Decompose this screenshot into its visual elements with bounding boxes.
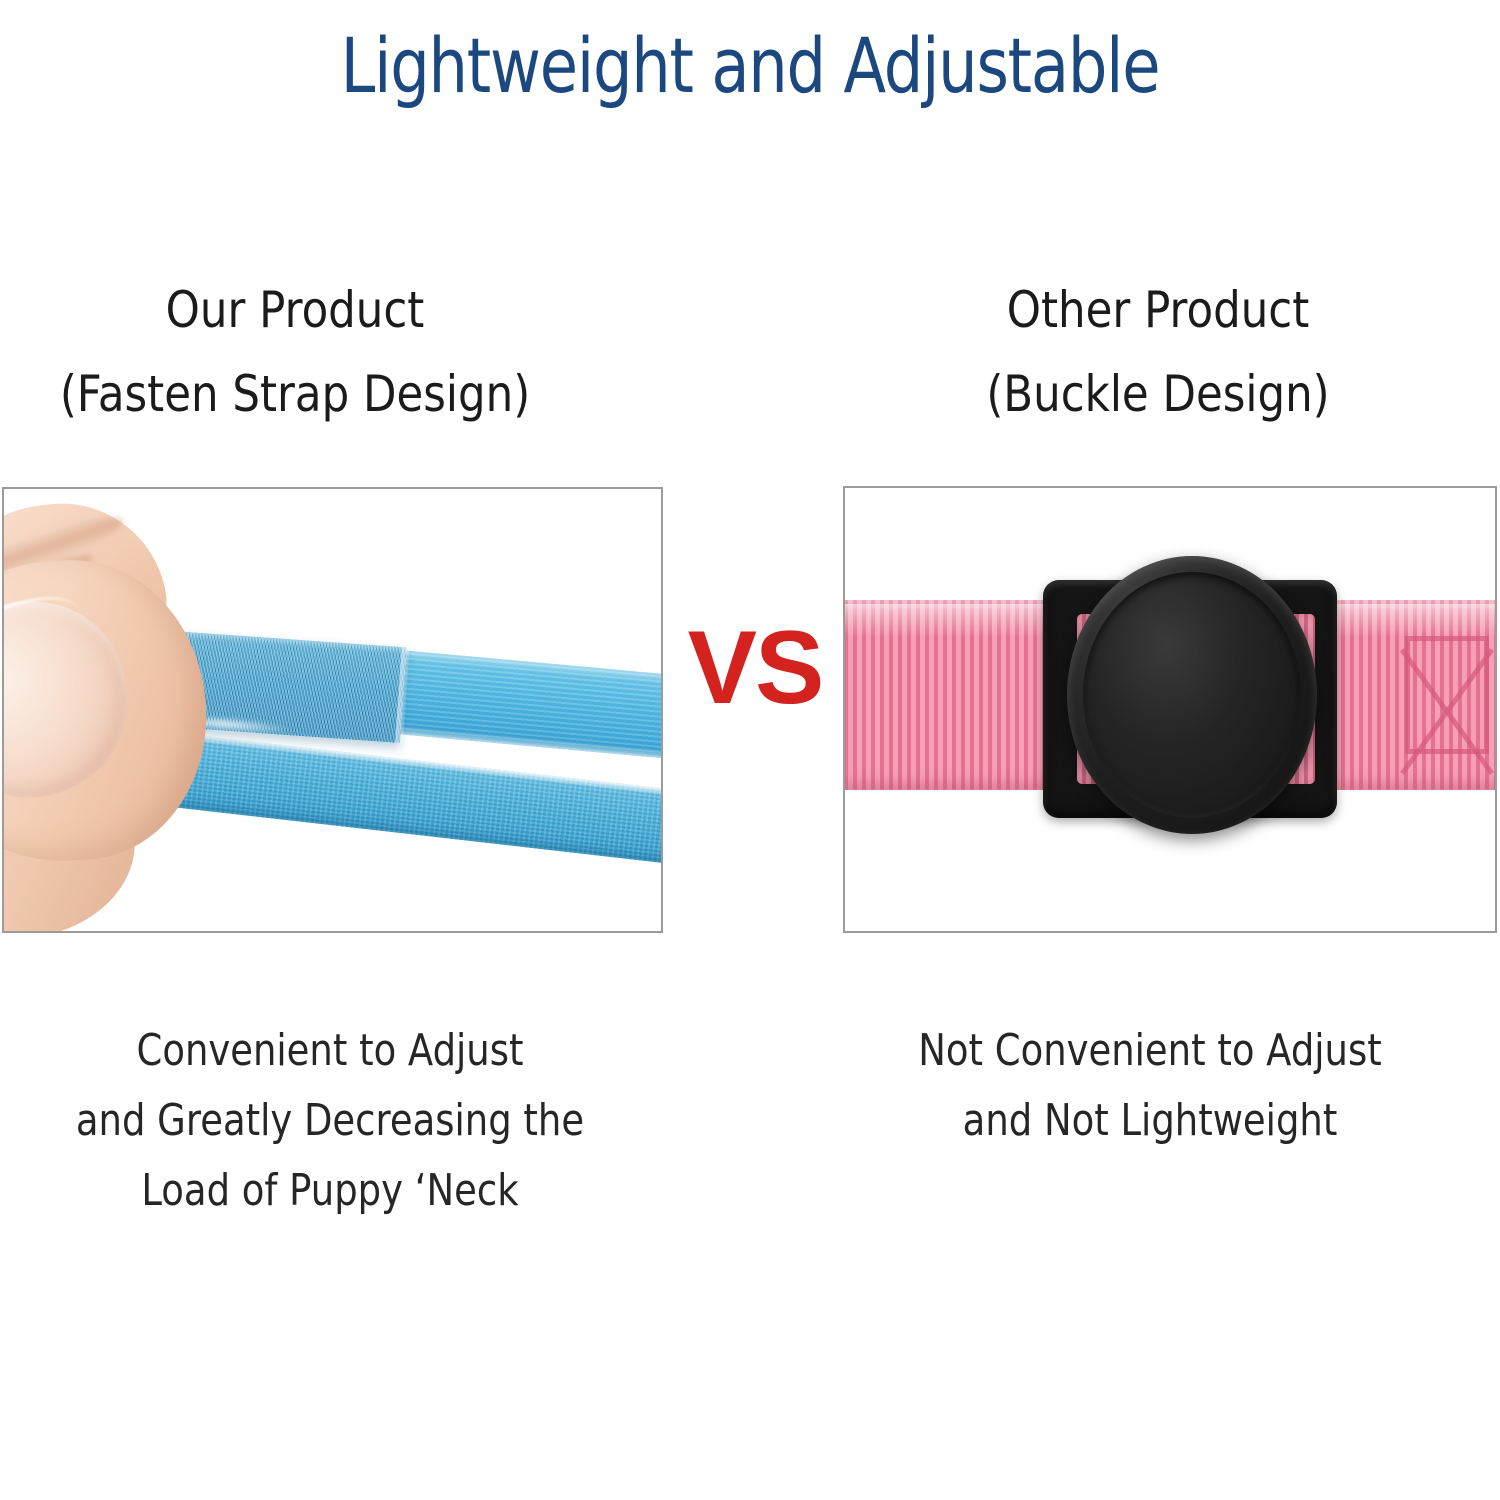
other-product-caption: Not Convenient to Adjust and Not Lightwe… bbox=[856, 1016, 1444, 1156]
caption-line: Load of Puppy ‘Neck bbox=[36, 1156, 624, 1226]
our-product-photo-panel bbox=[2, 487, 663, 933]
other-product-photo-panel bbox=[843, 486, 1497, 933]
box-x-stitch bbox=[1405, 636, 1489, 754]
page-title: Lightweight and Adjustable bbox=[135, 24, 1365, 108]
caption-line: and Not Lightweight bbox=[856, 1086, 1444, 1156]
caption-line: Not Convenient to Adjust bbox=[856, 1016, 1444, 1086]
our-product-caption: Convenient to Adjust and Greatly Decreas… bbox=[36, 1016, 624, 1226]
thumb bbox=[2, 551, 216, 871]
buckle-center-disc-inner bbox=[1083, 572, 1301, 818]
column-heading-our-product: Our Product (Fasten Strap Design) bbox=[0, 268, 600, 436]
caption-line: Convenient to Adjust bbox=[36, 1016, 624, 1086]
column-heading-other-product: Other Product (Buckle Design) bbox=[854, 268, 1463, 436]
hand-pinching-strap bbox=[2, 509, 224, 929]
buckle-center-disc bbox=[1067, 556, 1317, 834]
our-product-subheading-line: (Fasten Strap Design) bbox=[0, 352, 600, 436]
other-product-subheading-line: (Buckle Design) bbox=[854, 352, 1463, 436]
caption-line: and Greatly Decreasing the bbox=[36, 1086, 624, 1156]
other-product-heading-line: Other Product bbox=[1007, 281, 1310, 339]
our-product-heading-line: Our Product bbox=[166, 281, 425, 339]
vs-badge: VS bbox=[670, 612, 840, 724]
